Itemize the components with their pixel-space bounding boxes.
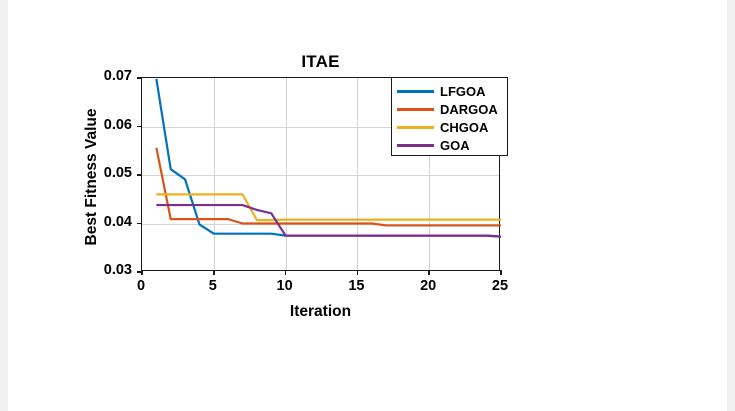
series-line-chgoa xyxy=(156,194,501,220)
y-tick-label: 0.06 xyxy=(32,117,132,133)
legend-swatch-dargoa xyxy=(397,108,434,111)
legend-item-lfgoa[interactable]: LFGOA xyxy=(397,82,502,100)
legend-item-dargoa[interactable]: DARGOA xyxy=(397,100,502,118)
figure-canvas: ITAE Best Fitness Value Iteration 0.030.… xyxy=(0,0,735,411)
y-tick-label: 0.05 xyxy=(32,165,132,181)
x-tick-label: 5 xyxy=(183,278,243,294)
x-tick-label: 0 xyxy=(111,278,171,294)
series-line-goa xyxy=(156,205,501,237)
legend-item-chgoa[interactable]: CHGOA xyxy=(397,118,502,136)
legend-label: DARGOA xyxy=(440,103,498,116)
y-tick-label: 0.04 xyxy=(32,214,132,230)
chart-title: ITAE xyxy=(141,52,500,72)
legend-swatch-lfgoa xyxy=(397,90,434,93)
y-tick-label: 0.07 xyxy=(32,68,132,84)
left-margin-band xyxy=(0,0,8,411)
x-axis-label: Iteration xyxy=(141,303,500,321)
series-line-dargoa xyxy=(156,148,501,226)
legend-label: LFGOA xyxy=(440,85,486,98)
x-tick-label: 10 xyxy=(255,278,315,294)
legend-item-goa[interactable]: GOA xyxy=(397,136,502,154)
x-tick-label: 15 xyxy=(326,278,386,294)
right-margin-band xyxy=(727,0,735,411)
legend-swatch-goa xyxy=(397,144,434,147)
legend-label: GOA xyxy=(440,139,470,152)
x-tick-label: 25 xyxy=(470,278,530,294)
legend-box[interactable]: LFGOADARGOACHGOAGOA xyxy=(391,77,508,156)
legend-swatch-chgoa xyxy=(397,126,434,129)
legend-label: CHGOA xyxy=(440,121,488,134)
x-tick-label: 20 xyxy=(398,278,458,294)
y-tick-label: 0.03 xyxy=(32,262,132,278)
